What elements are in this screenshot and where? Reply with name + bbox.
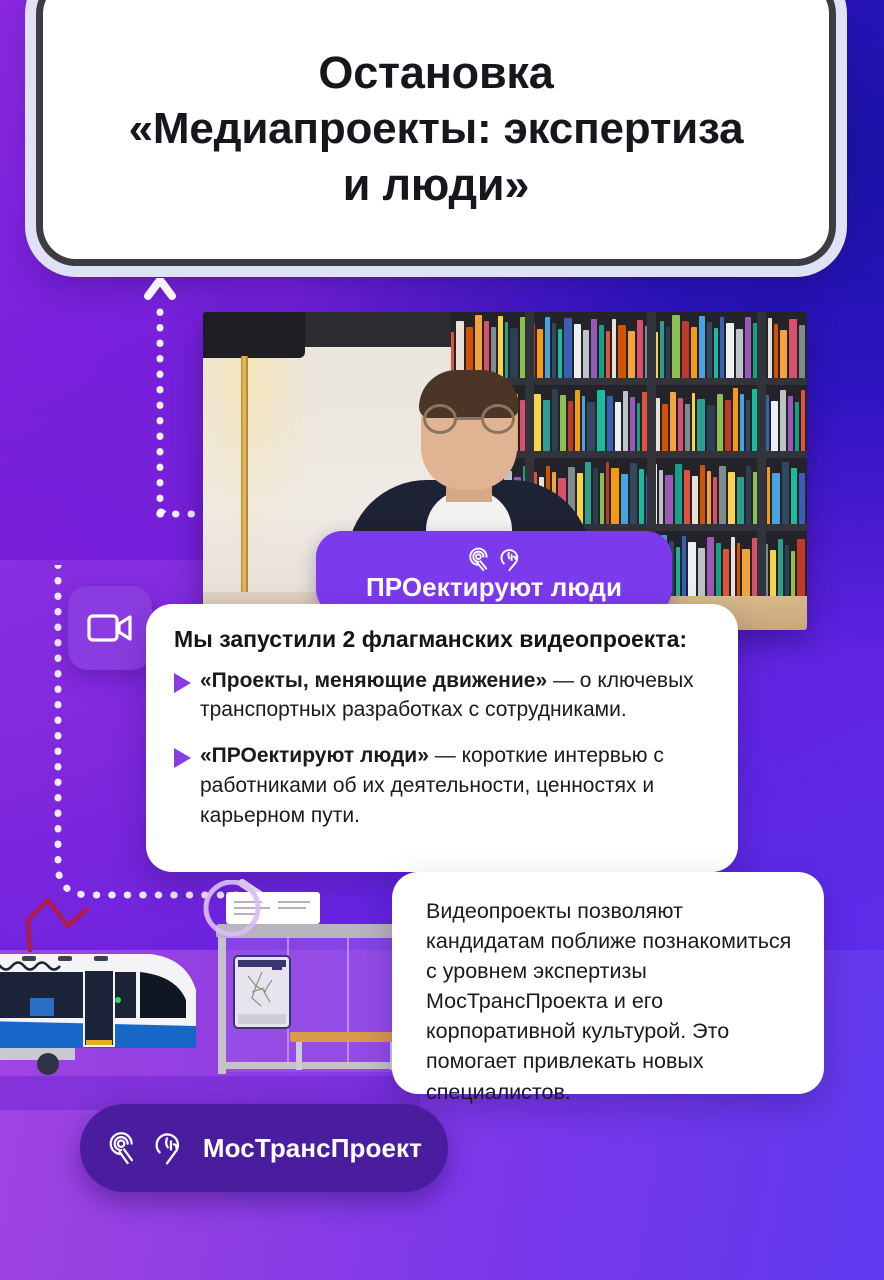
bus-stop-shelter <box>206 882 404 1074</box>
brand-name: МосТрансПроект <box>203 1133 422 1164</box>
badge-logos <box>466 546 523 573</box>
play-triangle-icon <box>174 673 191 693</box>
photo-lamp-pole <box>241 356 248 610</box>
list-item: «ПРОектируют люди» — короткие интервью с… <box>174 741 712 830</box>
description-text: Видеопроекты позволяют кандидатам поближ… <box>426 896 800 1107</box>
photo-lamp-glow <box>203 350 323 550</box>
badge-caption: ПРОектируют люди <box>366 574 622 600</box>
video-title-badge: ПРОектируют люди <box>316 531 672 615</box>
tram-illustration <box>0 900 196 1075</box>
title-line-2: «Медиапроекты: экспертиза <box>97 101 775 156</box>
footer-brand-pill[interactable]: МосТрансПроект <box>80 1104 448 1192</box>
title-line-1: Остановка <box>97 45 775 102</box>
monogram-pin-logo-icon <box>498 546 523 573</box>
card-heading: Мы запустили 2 флагманских видеопроекта: <box>174 626 712 654</box>
bullet-text: «ПРОектируют люди» — короткие интервью с… <box>200 741 712 830</box>
video-camera-icon <box>87 612 133 644</box>
title-card: Остановка «Медиапроекты: экспертиза и лю… <box>36 0 836 266</box>
photo-lamp-shade <box>203 312 305 358</box>
description-card: Видеопроекты позволяют кандидатам поближ… <box>392 872 824 1094</box>
title-line-3: и люди» <box>97 157 775 214</box>
bullet-title: «Проекты, меняющие движение» <box>200 669 547 692</box>
tram-and-stop-illustration <box>0 880 420 1110</box>
bullet-text: «Проекты, меняющие движение» — о ключевы… <box>200 666 712 726</box>
spiral-pin-logo-icon <box>106 1118 141 1178</box>
video-projects-card: Мы запустили 2 флагманских видеопроекта:… <box>146 604 738 872</box>
video-camera-icon-container <box>68 586 152 670</box>
spiral-pin-logo-icon <box>466 546 493 573</box>
monogram-pin-logo-icon <box>153 1118 185 1178</box>
play-triangle-icon <box>174 748 191 768</box>
bullet-title: «ПРОектируют люди» <box>200 744 429 767</box>
page-title: Остановка «Медиапроекты: экспертиза и лю… <box>97 45 775 214</box>
list-item: «Проекты, меняющие движение» — о ключевы… <box>174 666 712 726</box>
